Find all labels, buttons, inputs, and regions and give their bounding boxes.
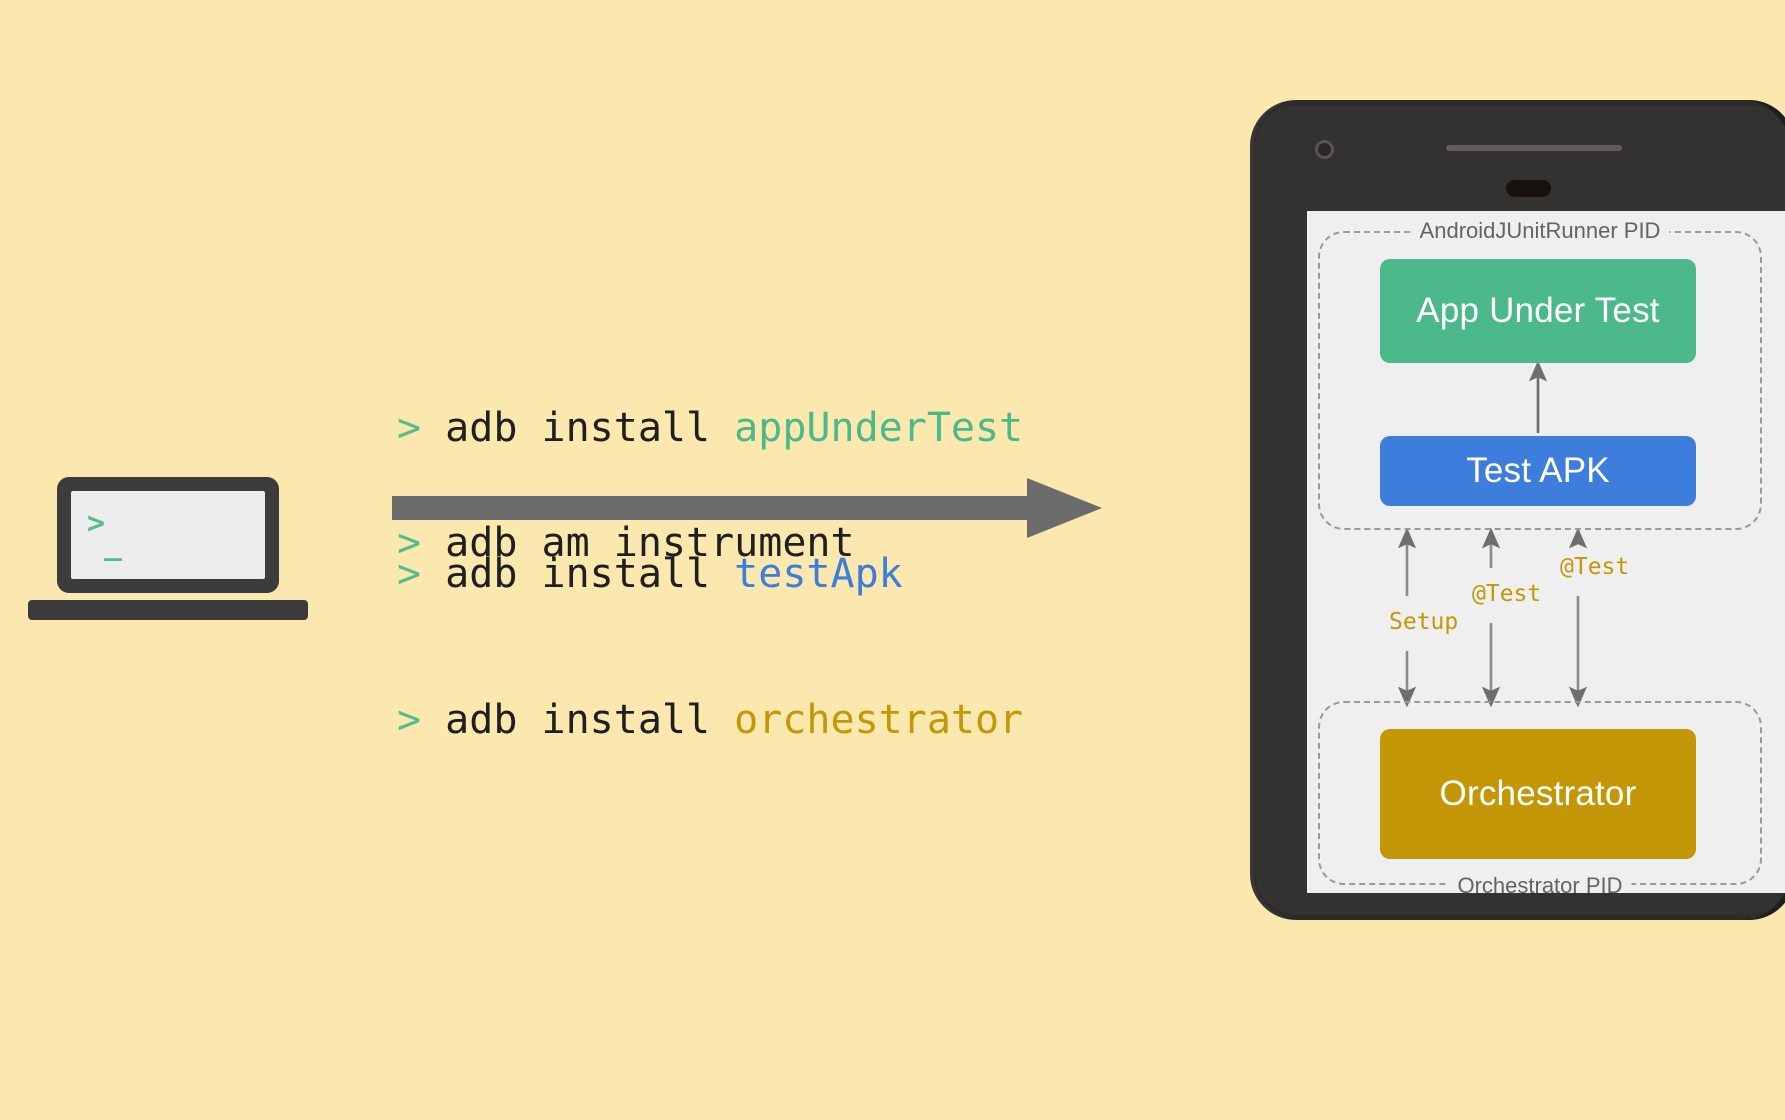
laptop-base [28, 600, 308, 620]
node-app-under-test[interactable]: App Under Test [1380, 259, 1696, 363]
camera-icon [1315, 140, 1334, 159]
laptop-screen: > _ [71, 491, 265, 579]
phone-screen: AndroidJUnitRunner PID App Under Test Te… [1307, 211, 1785, 893]
group-label-orchestrator: Orchestrator PID [1448, 873, 1631, 893]
command-prompt: > [397, 405, 445, 451]
install-command-line: > adb install appUnderTest [397, 404, 1023, 453]
command-argument: orchestrator [734, 697, 1023, 743]
install-commands-block: > adb install appUnderTest > adb install… [397, 306, 1023, 843]
flow-label-test-1: @Test [1472, 581, 1541, 607]
laptop-terminal-icon: > _ [28, 477, 308, 622]
command-prompt: > [397, 697, 445, 743]
install-command-line: > adb install orchestrator [397, 696, 1023, 745]
laptop-prompt-caret: > [87, 509, 104, 539]
laptop-lid: > _ [57, 477, 279, 593]
laptop-prompt-underscore: _ [104, 530, 121, 560]
command-text: adb install [445, 697, 734, 743]
node-orchestrator[interactable]: Orchestrator [1380, 729, 1696, 859]
command-text: adb install [445, 405, 734, 451]
group-label-androidjunitrunner: AndroidJUnitRunner PID [1411, 218, 1670, 244]
diagram-canvas: > _ > adb install appUnderTest > adb ins… [0, 0, 1785, 1120]
flow-label-setup: Setup [1389, 609, 1458, 635]
deploy-arrow-icon [392, 478, 1102, 538]
node-test-apk[interactable]: Test APK [1380, 436, 1696, 506]
speaker-grille-icon [1446, 145, 1622, 151]
laptop-prompt-icon: > _ [87, 509, 121, 560]
proximity-sensor-icon [1506, 180, 1551, 197]
flow-label-test-2: @Test [1560, 554, 1629, 580]
command-argument: appUnderTest [734, 405, 1023, 451]
android-phone: AndroidJUnitRunner PID App Under Test Te… [1250, 100, 1785, 920]
